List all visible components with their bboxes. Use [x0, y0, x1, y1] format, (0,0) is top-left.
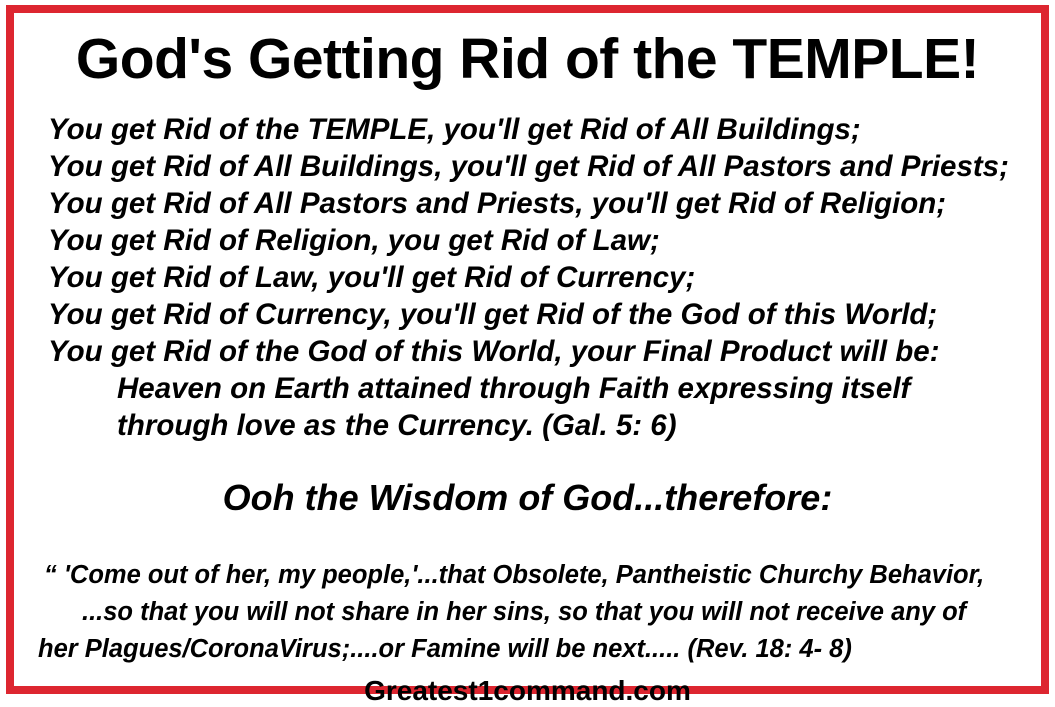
chain-line: You get Rid of Law, you'll get Rid of Cu…: [48, 259, 1029, 296]
poster-content: God's Getting Rid of the TEMPLE! You get…: [14, 31, 1041, 704]
wisdom-banner: Ooh the Wisdom of God...therefore:: [26, 477, 1029, 519]
chain-line-indented: Heaven on Earth attained through Faith e…: [48, 370, 1029, 407]
quote-line: “ 'Come out of her, my people,'...that O…: [44, 557, 1029, 594]
chain-line: You get Rid of Currency, you'll get Rid …: [48, 296, 1029, 333]
scripture-quote-block: “ 'Come out of her, my people,'...that O…: [26, 557, 1029, 668]
red-border-frame: God's Getting Rid of the TEMPLE! You get…: [6, 5, 1049, 694]
quote-line: ...so that you will not share in her sin…: [44, 594, 1029, 631]
quote-line: her Plagues/CoronaVirus;....or Famine wi…: [38, 631, 1029, 668]
consequence-chain-block: You get Rid of the TEMPLE, you'll get Ri…: [26, 111, 1029, 444]
chain-line: You get Rid of All Pastors and Priests, …: [48, 185, 1029, 222]
chain-line-indented: through love as the Currency. (Gal. 5: 6…: [48, 407, 1029, 444]
chain-line: You get Rid of the God of this World, yo…: [48, 333, 1029, 370]
chain-line: You get Rid of the TEMPLE, you'll get Ri…: [48, 111, 1029, 148]
chain-line: You get Rid of Religion, you get Rid of …: [48, 222, 1029, 259]
chain-line: You get Rid of All Buildings, you'll get…: [48, 148, 1029, 185]
website-footer: Greatest1command.com: [26, 675, 1029, 707]
page-title: God's Getting Rid of the TEMPLE!: [26, 31, 1029, 88]
poster-canvas: God's Getting Rid of the TEMPLE! You get…: [0, 0, 1055, 700]
